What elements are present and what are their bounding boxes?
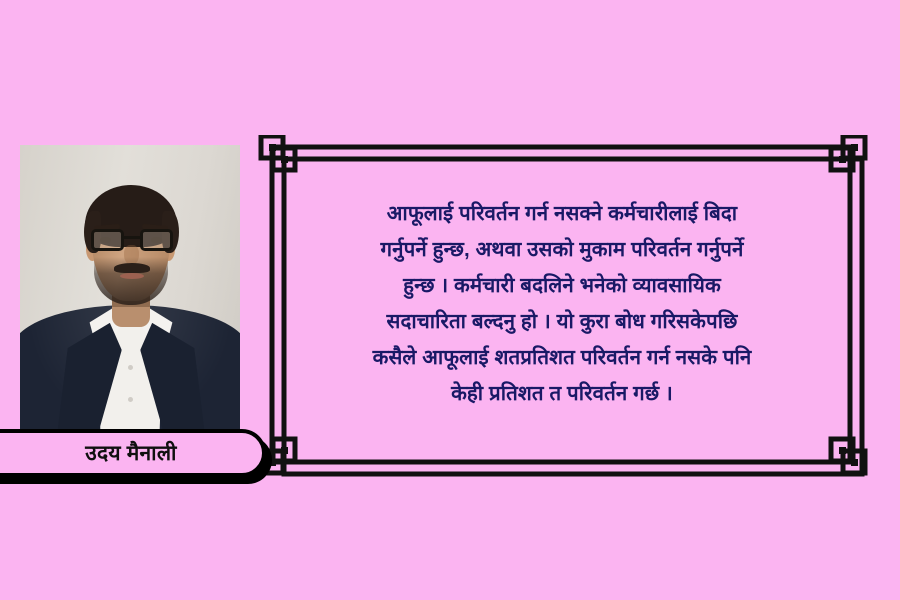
shirt-button xyxy=(128,365,133,370)
eyeglass-lens-left xyxy=(91,229,124,251)
eyeglass-lens-right xyxy=(140,229,173,251)
quote-poster: आफूलाई परिवर्तन गर्न नसक्ने कर्मचारीलाई … xyxy=(0,0,900,600)
lips xyxy=(120,273,144,279)
shirt-button xyxy=(128,397,133,402)
quote-line: केही प्रतिशत त परिवर्तन गर्छ । xyxy=(282,376,842,412)
quote-line: गर्नुपर्ने हुन्छ, अथवा उसको मुकाम परिवर्… xyxy=(282,232,842,268)
quote-line: सदाचारिता बल्दनु हो । यो कुरा बोध गरिसके… xyxy=(282,304,842,340)
quote-line: कसैले आफूलाई शतप्रतिशत परिवर्तन गर्न नसक… xyxy=(282,340,842,376)
eyeglass-bridge xyxy=(124,236,140,239)
name-badge-label: उदय मैनाली xyxy=(59,439,176,467)
portrait-image xyxy=(20,145,240,435)
moustache xyxy=(114,263,150,273)
quote-line: आफूलाई परिवर्तन गर्न नसक्ने कर्मचारीलाई … xyxy=(282,196,842,232)
quote-line: हुन्छ । कर्मचारी बदलिने भनेको व्यावसायिक xyxy=(282,268,842,304)
quote-text: आफूलाई परिवर्तन गर्न नसक्ने कर्मचारीलाई … xyxy=(282,196,842,412)
name-badge: उदय मैनाली xyxy=(0,429,266,477)
eyeglasses xyxy=(88,229,176,253)
portrait-photo xyxy=(20,145,240,435)
